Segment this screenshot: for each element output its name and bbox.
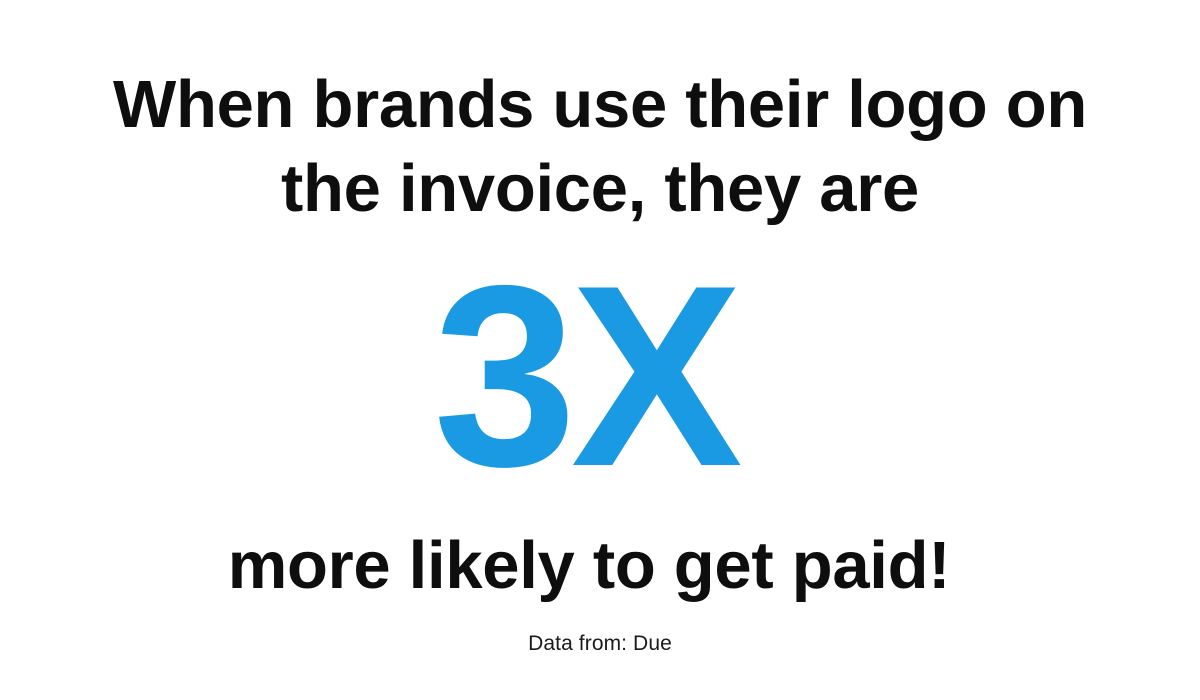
headline-line-1: When brands use their logo on [100,63,1100,147]
subline: more likely to get paid! [39,527,1139,605]
stat-container: 3X [0,261,1200,491]
stat-value: 3X [433,261,737,491]
source-attribution: Data from: Due [528,631,672,657]
headline: When brands use their logo on the invoic… [100,63,1100,231]
infographic-slide: When brands use their logo on the invoic… [0,0,1200,700]
headline-line-2: the invoice, they are [100,147,1100,231]
